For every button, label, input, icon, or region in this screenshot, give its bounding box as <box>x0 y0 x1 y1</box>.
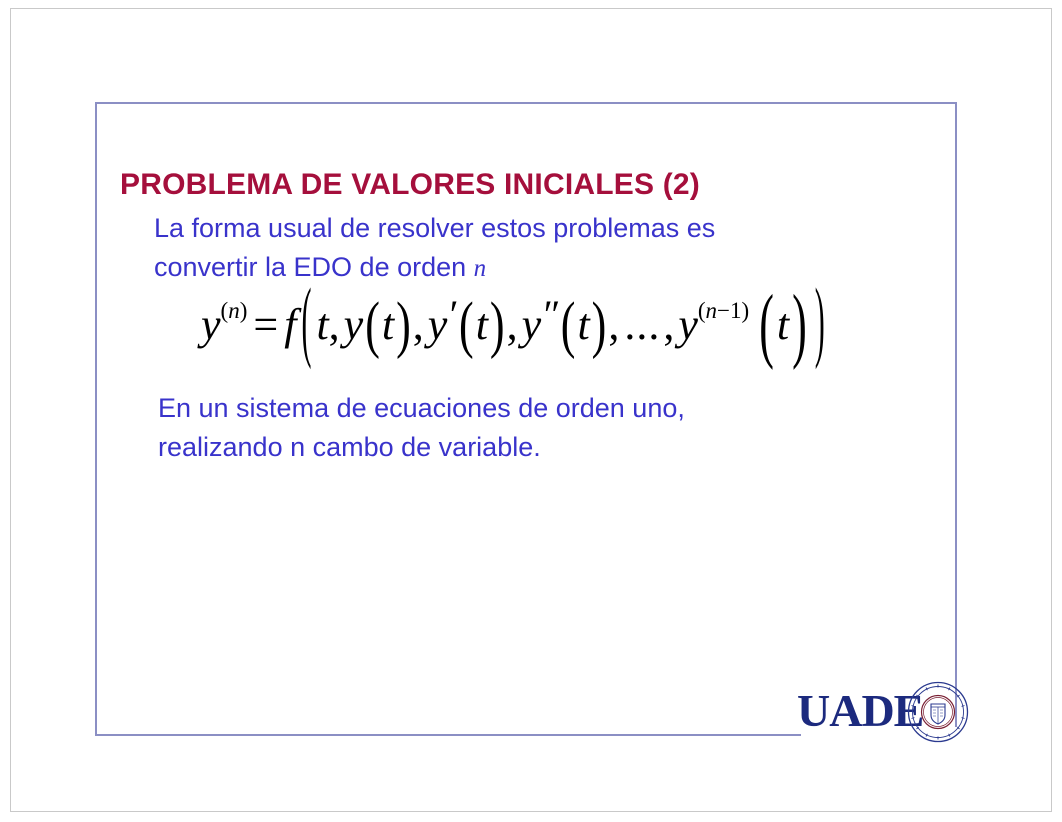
superscript-n: n <box>228 298 240 323</box>
equation-big-close-paren: ) <box>810 272 830 374</box>
uade-wordmark: UADE <box>797 685 923 737</box>
superscript2-n: n <box>706 298 718 323</box>
equation-prime-first: ′ <box>447 291 457 338</box>
superscript2-open-paren: ( <box>698 298 706 323</box>
equation-close-paren-3: ) <box>590 287 609 361</box>
equation-ellipsis: ... <box>623 299 663 350</box>
superscript2-one: 1 <box>730 298 742 323</box>
equation-comma-4: , <box>608 299 623 350</box>
slide-title: PROBLEMA DE VALORES INICIALES (2) <box>120 168 700 202</box>
equation-arg-t-2: t <box>382 299 394 350</box>
equation-function-f: f <box>284 299 296 350</box>
equation-close-paren-1: ) <box>394 287 413 361</box>
equation-prime-second: ″ <box>541 291 559 338</box>
equation-arg-y-4: y <box>678 299 698 350</box>
uade-seal-icon <box>907 681 969 743</box>
superscript2-close-paren: ) <box>742 298 750 323</box>
equation-lhs-y: y <box>201 299 221 350</box>
display-equation: y(n)=f(t,y(t),y′(t),y″(t),...,y(n−1)(t)) <box>201 288 830 360</box>
equation-arg-y-3: y <box>522 299 542 350</box>
equation-close-paren-4: ) <box>789 276 810 373</box>
body-paragraph-2: En un sistema de ecuaciones de orden uno… <box>158 389 858 467</box>
uade-logo: UADE <box>797 685 973 745</box>
superscript2-minus: − <box>717 298 730 323</box>
equation-comma-1: , <box>329 299 344 350</box>
equation-arg-t-5: t <box>777 299 789 350</box>
equation-arg-y-2: y <box>428 299 448 350</box>
equation-big-open-paren: ( <box>296 272 316 374</box>
equation-equals-sign: = <box>247 299 284 350</box>
equation-open-paren-3: ( <box>559 287 578 361</box>
equation-arg-y-1: y <box>344 299 364 350</box>
equation-comma-2: , <box>413 299 428 350</box>
equation-comma-5: , <box>663 299 678 350</box>
equation-lhs-superscript: (n) <box>221 298 248 324</box>
equation-superscript-n-minus-1: (n−1) <box>698 298 749 324</box>
equation-comma-3: , <box>507 299 522 350</box>
equation-open-paren-1: ( <box>363 287 382 361</box>
equation-close-paren-2: ) <box>488 287 507 361</box>
body-paragraph-1-text: La forma usual de resolver estos problem… <box>154 213 715 282</box>
order-variable-n: n <box>474 255 487 282</box>
equation-arg-t-3: t <box>476 299 488 350</box>
equation-open-paren-2: ( <box>457 287 476 361</box>
page-frame: PROBLEMA DE VALORES INICIALES (2) La for… <box>10 8 1052 812</box>
equation-arg-t-4: t <box>577 299 589 350</box>
equation-arg-t-1: t <box>316 299 328 350</box>
equation-open-paren-4: ( <box>756 276 777 373</box>
superscript-close-paren: ) <box>240 298 248 323</box>
